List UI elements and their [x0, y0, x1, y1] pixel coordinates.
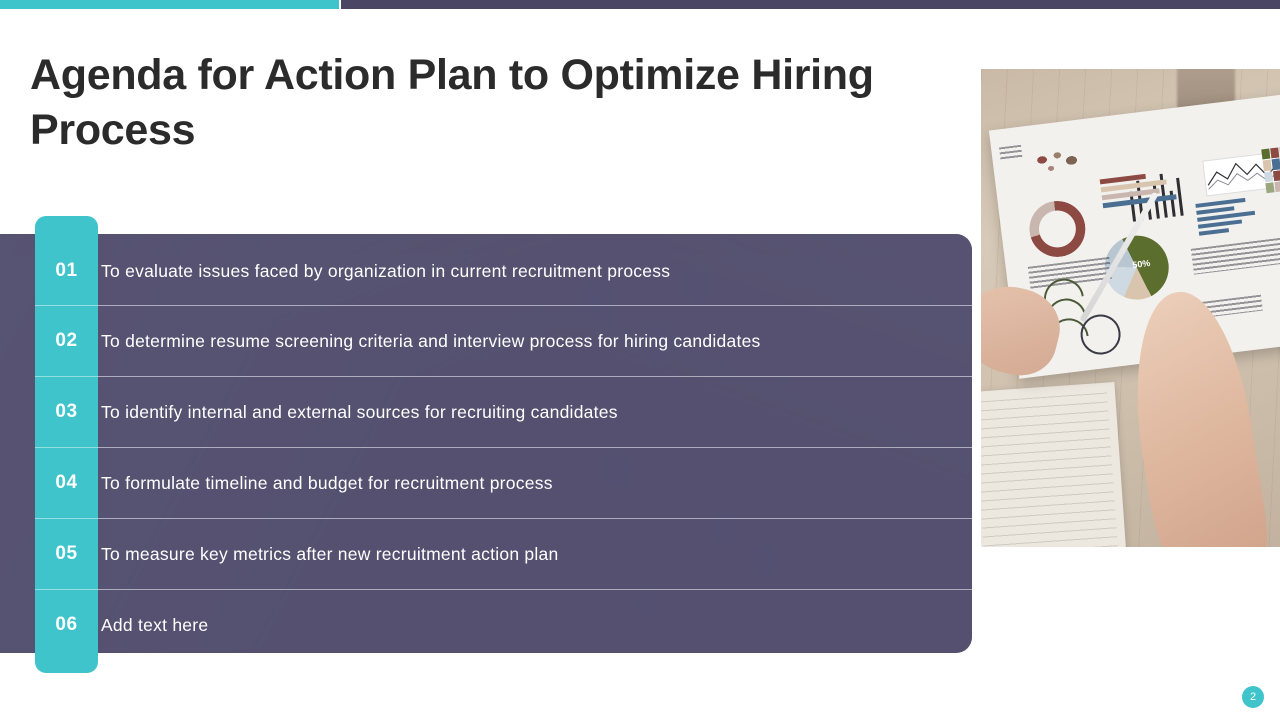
agenda-row-text: Add text here: [101, 615, 208, 636]
notebook: [981, 382, 1127, 547]
agenda-number[interactable]: 03: [35, 377, 98, 447]
slide: Agenda for Action Plan to Optimize Hirin…: [0, 0, 1280, 720]
agenda-row-text: To measure key metrics after new recruit…: [101, 544, 559, 565]
agenda-panel: To evaluate issues faced by organization…: [0, 234, 972, 653]
agenda-row-text: To formulate timeline and budget for rec…: [101, 473, 553, 494]
top-accent-bar-teal: [0, 0, 339, 9]
world-map-graphic: [1029, 141, 1089, 182]
donut-chart-graphic: [1026, 198, 1088, 260]
agenda-row[interactable]: Add text here: [101, 590, 962, 653]
agenda-row[interactable]: To measure key metrics after new recruit…: [101, 519, 962, 589]
text-block: [1191, 238, 1280, 275]
agenda-row-list: To evaluate issues faced by organization…: [0, 234, 972, 653]
blue-bar-graphic: [1195, 195, 1269, 239]
page-number-badge: 2: [1242, 686, 1264, 708]
agenda-number-column: 01 02 03 04 05 06: [35, 216, 98, 673]
agenda-row[interactable]: To identify internal and external source…: [101, 377, 962, 447]
page-title: Agenda for Action Plan to Optimize Hirin…: [30, 48, 930, 158]
desk-photo: 50%: [981, 69, 1280, 547]
agenda-row-text: To identify internal and external source…: [101, 402, 618, 423]
agenda-number[interactable]: 02: [35, 306, 98, 376]
text-block: [999, 145, 1023, 162]
agenda-number[interactable]: 01: [35, 236, 98, 306]
agenda-row[interactable]: To determine resume screening criteria a…: [101, 306, 962, 376]
agenda-number[interactable]: 04: [35, 448, 98, 518]
agenda-row[interactable]: To formulate timeline and budget for rec…: [101, 448, 962, 518]
agenda-row-text: To determine resume screening criteria a…: [101, 331, 761, 352]
top-accent-bar-purple: [341, 0, 1280, 9]
photo-frame: 50%: [975, 63, 1280, 553]
agenda-row[interactable]: To evaluate issues faced by organization…: [101, 236, 962, 306]
agenda-row-text: To evaluate issues faced by organization…: [101, 261, 670, 282]
agenda-number[interactable]: 06: [35, 590, 98, 660]
agenda-number[interactable]: 05: [35, 519, 98, 589]
